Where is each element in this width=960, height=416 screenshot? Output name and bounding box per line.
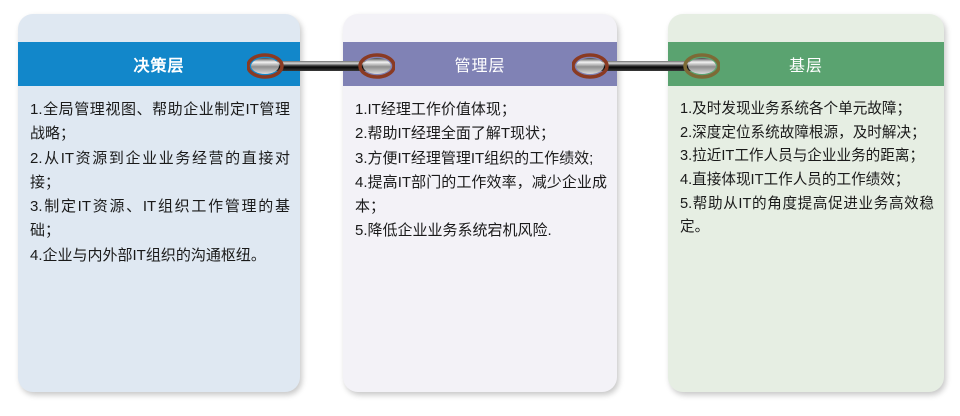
list-item: 1.及时发现业务系统各个单元故障； bbox=[680, 98, 934, 122]
card-title-decision-layer: 决策层 bbox=[133, 52, 184, 76]
list-item: 2.深度定位系统故障根源，及时解决； bbox=[680, 122, 934, 146]
card-body-management-layer: 1.IT经理工作价值体现； 2.帮助IT经理全面了解T现状； 3.方便IT经理管… bbox=[343, 86, 617, 392]
connector-knob-right bbox=[688, 58, 716, 74]
bullet-list-management-layer: 1.IT经理工作价值体现； 2.帮助IT经理全面了解T现状； 3.方便IT经理管… bbox=[355, 98, 607, 244]
list-item: 3.制定IT资源、IT组织工作管理的基础； bbox=[30, 195, 290, 244]
bullet-list-grassroots-layer: 1.及时发现业务系统各个单元故障； 2.深度定位系统故障根源，及时解决； 3.拉… bbox=[680, 98, 934, 240]
connector-decision-to-management bbox=[247, 50, 395, 82]
list-item: 4.企业与内外部IT组织的沟通枢纽。 bbox=[30, 244, 290, 268]
three-layer-diagram: 决策层 1.全局管理视图、帮助企业制定IT管理战略； 2.从IT资源到企业业务经… bbox=[0, 0, 960, 416]
list-item: 1.IT经理工作价值体现； bbox=[355, 98, 607, 122]
list-item: 4.直接体现IT工作人员的工作绩效； bbox=[680, 169, 934, 193]
list-item: 5.帮助从IT的角度提高促进业务高效稳定。 bbox=[680, 193, 934, 240]
list-item: 3.拉近IT工作人员与企业业务的距离； bbox=[680, 145, 934, 169]
connector-knob-left bbox=[251, 58, 279, 74]
connector-management-to-grassroots bbox=[572, 50, 720, 82]
card-title-management-layer: 管理层 bbox=[454, 52, 505, 76]
list-item: 5.降低企业业务系统宕机风险. bbox=[355, 219, 607, 243]
connector-knob-right bbox=[363, 58, 391, 74]
card-body-decision-layer: 1.全局管理视图、帮助企业制定IT管理战略； 2.从IT资源到企业业务经营的直接… bbox=[18, 86, 300, 392]
list-item: 2.从IT资源到企业业务经营的直接对接； bbox=[30, 147, 290, 196]
list-item: 2.帮助IT经理全面了解T现状； bbox=[355, 122, 607, 146]
list-item: 3.方便IT经理管理IT组织的工作绩效; bbox=[355, 147, 607, 171]
bullet-list-decision-layer: 1.全局管理视图、帮助企业制定IT管理战略； 2.从IT资源到企业业务经营的直接… bbox=[30, 98, 290, 268]
list-item: 1.全局管理视图、帮助企业制定IT管理战略； bbox=[30, 98, 290, 147]
connector-knob-left bbox=[576, 58, 604, 74]
card-title-grassroots-layer: 基层 bbox=[789, 52, 823, 76]
card-body-grassroots-layer: 1.及时发现业务系统各个单元故障； 2.深度定位系统故障根源，及时解决； 3.拉… bbox=[668, 86, 944, 392]
list-item: 4.提高IT部门的工作效率，减少企业成本； bbox=[355, 171, 607, 220]
